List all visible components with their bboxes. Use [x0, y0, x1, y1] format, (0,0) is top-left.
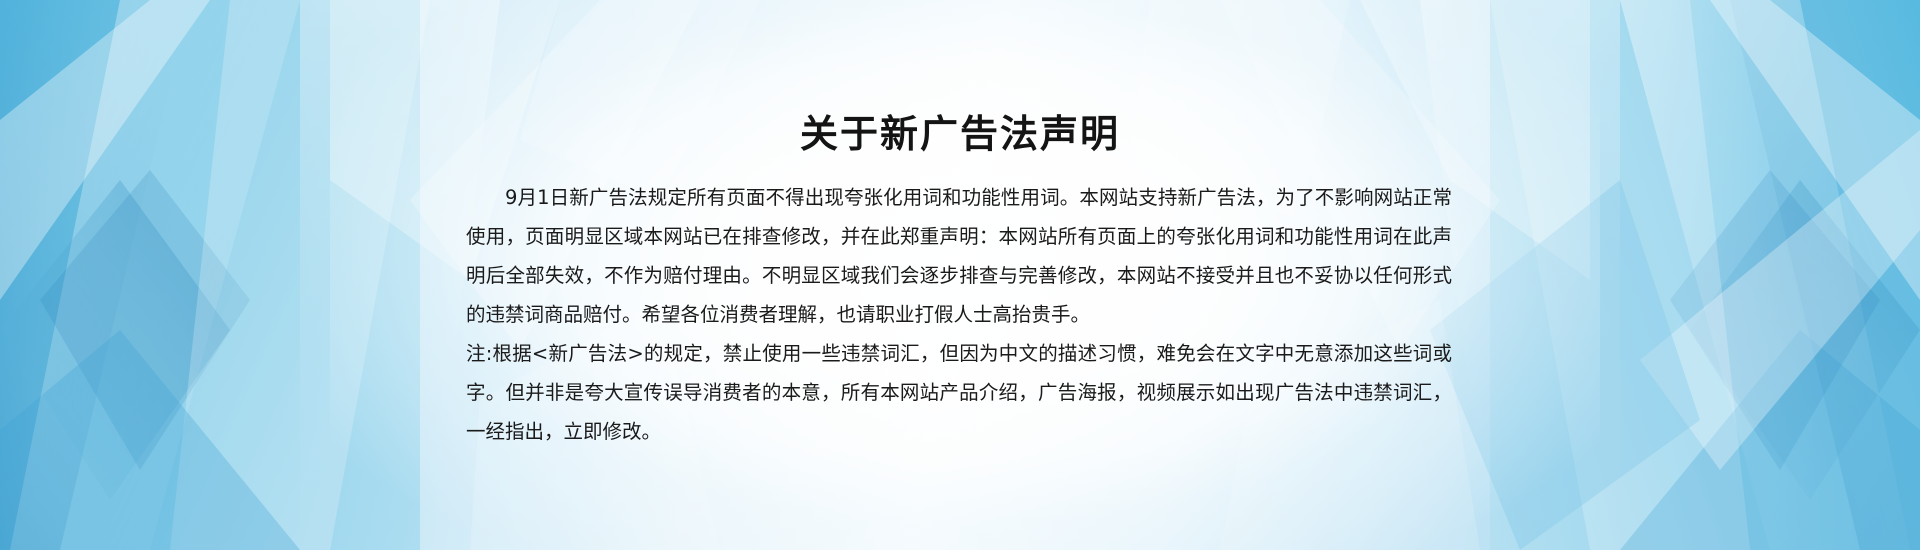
statement-body: 9月1日新广告法规定所有页面不得出现夸张化用词和功能性用词。本网站支持新广告法，… — [466, 178, 1452, 451]
statement-paragraph-2: 注:根据<新广告法>的规定，禁止使用一些违禁词汇，但因为中文的描述习惯，难免会在… — [466, 334, 1452, 451]
statement-content: 关于新广告法声明 9月1日新广告法规定所有页面不得出现夸张化用词和功能性用词。本… — [0, 0, 1920, 550]
statement-paragraph-1: 9月1日新广告法规定所有页面不得出现夸张化用词和功能性用词。本网站支持新广告法，… — [466, 178, 1452, 334]
page-title: 关于新广告法声明 — [0, 103, 1920, 158]
advertising-law-statement-banner: 关于新广告法声明 9月1日新广告法规定所有页面不得出现夸张化用词和功能性用词。本… — [0, 0, 1920, 550]
